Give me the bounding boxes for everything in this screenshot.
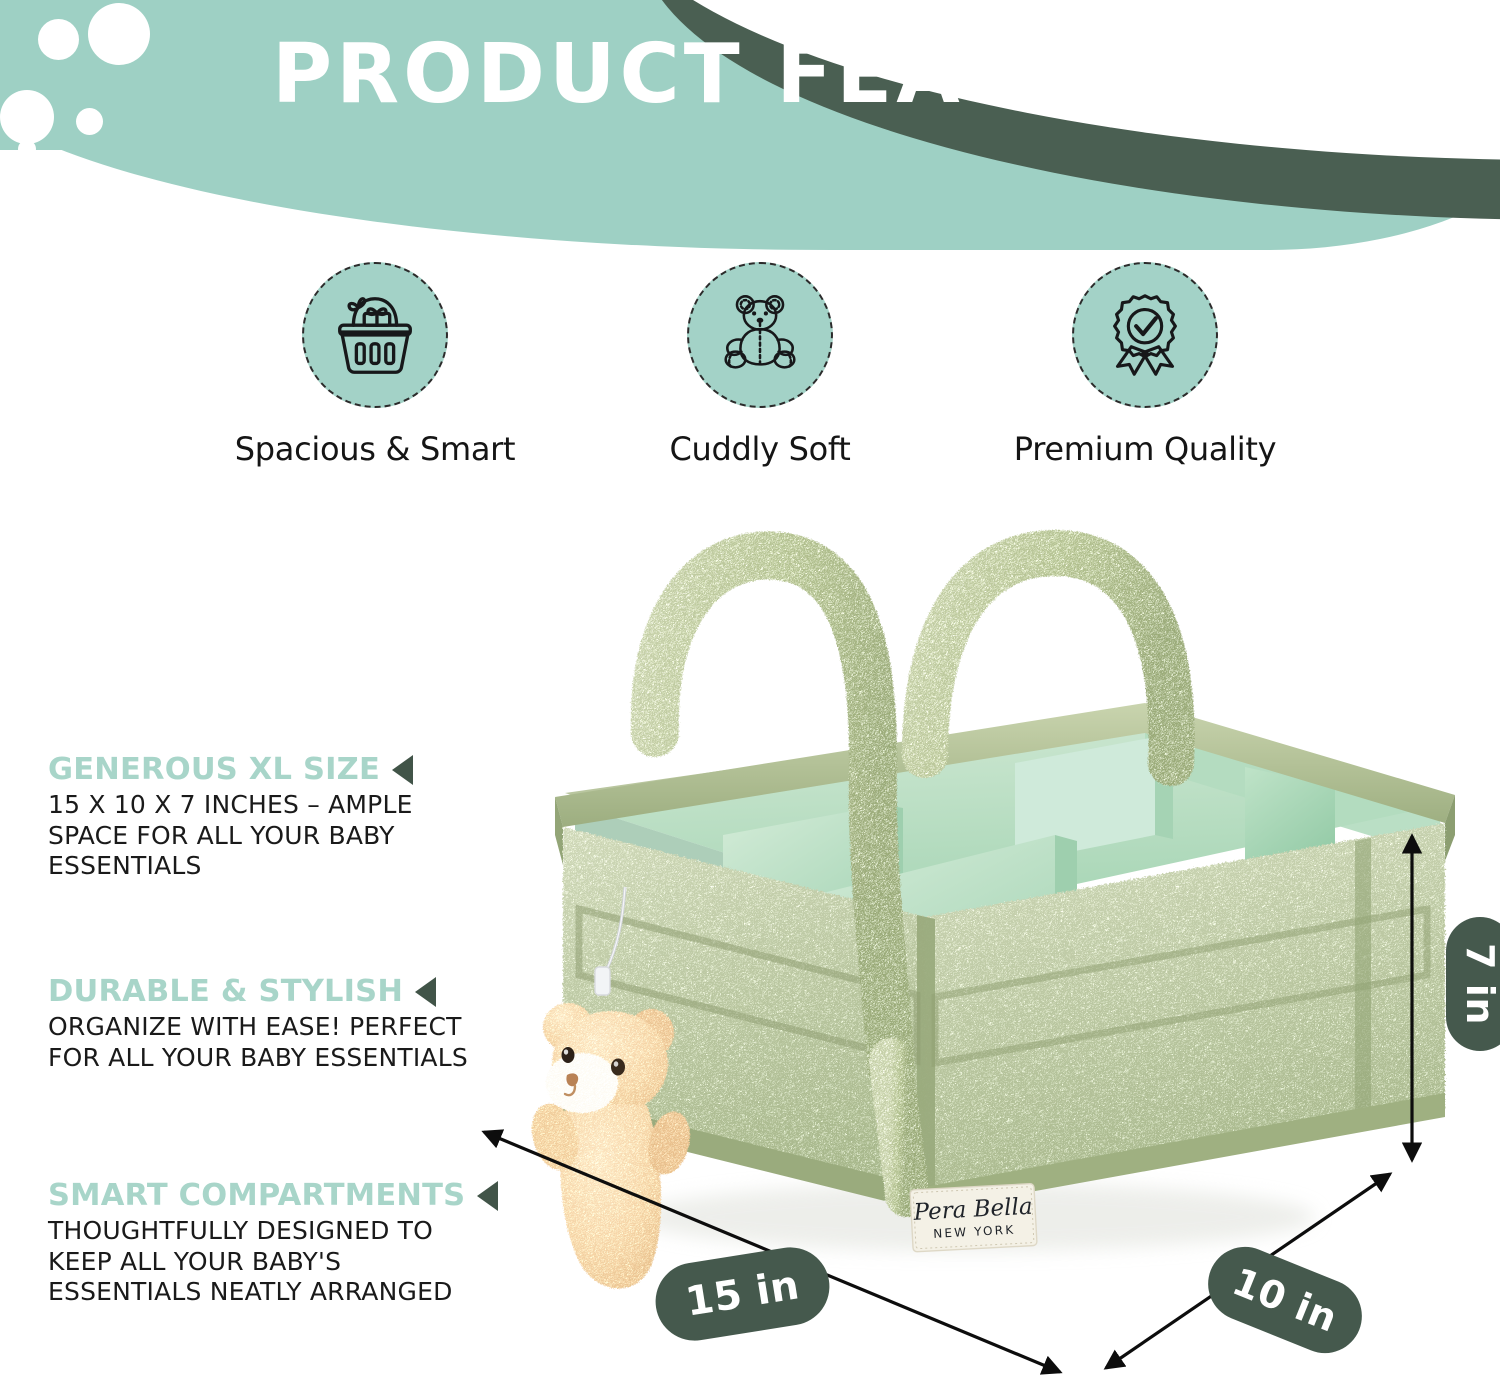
bullet-body: 15 X 10 X 7 INCHES – AMPLE SPACE FOR ALL… [48,790,468,882]
feature-item-spacious-smart: Spacious & Smart [250,262,500,468]
infographic-canvas: PRODUCT FEATURES [0,0,1500,1380]
quality-badge-icon [1096,286,1194,384]
teddy-bear-icon [711,286,809,384]
bullet-durable-stylish: DURABLE & STYLISH ORGANIZE WITH EASE! PE… [48,974,468,1073]
feature-highlights-row: Spacious & Smart [250,262,1270,468]
bullet-heading: SMART COMPARTMENTS [48,1178,465,1213]
bullet-generous-xl-size: GENEROUS XL SIZE 15 X 10 X 7 INCHES – AM… [48,752,468,882]
feature-item-label: Cuddly Soft [669,430,850,468]
left-arrow-icon [415,977,436,1007]
feature-item-label: Premium Quality [1014,430,1276,468]
diaper-caddy-illustration: Pera Bella NEW YORK [455,505,1455,1335]
gift-basket-icon [326,286,424,384]
left-arrow-icon [392,755,413,785]
bullet-body: ORGANIZE WITH EASE! PERFECT FOR ALL YOUR… [48,1012,468,1073]
decorative-bubble [18,140,36,158]
bullet-body: THOUGHTFULLY DESIGNED TO KEEP ALL YOUR B… [48,1216,468,1308]
brand-label: Pera Bella NEW YORK [910,1184,1037,1252]
bullet-heading: GENEROUS XL SIZE [48,752,380,787]
feature-item-cuddly-soft: Cuddly Soft [635,262,885,468]
feature-icon-badge [302,262,448,408]
feature-item-premium-quality: Premium Quality [1020,262,1270,468]
feature-icon-badge [687,262,833,408]
feature-item-label: Spacious & Smart [235,430,516,468]
bullet-heading: DURABLE & STYLISH [48,974,403,1009]
product-photo: Pera Bella NEW YORK [455,505,1455,1335]
feature-icon-badge [1072,262,1218,408]
height-dimension-badge: 7 in [1446,917,1500,1051]
page-title: PRODUCT FEATURES [0,32,1500,118]
left-arrow-icon [477,1181,498,1211]
bullet-smart-compartments: SMART COMPARTMENTS THOUGHTFULLY DESIGNED… [48,1178,468,1308]
